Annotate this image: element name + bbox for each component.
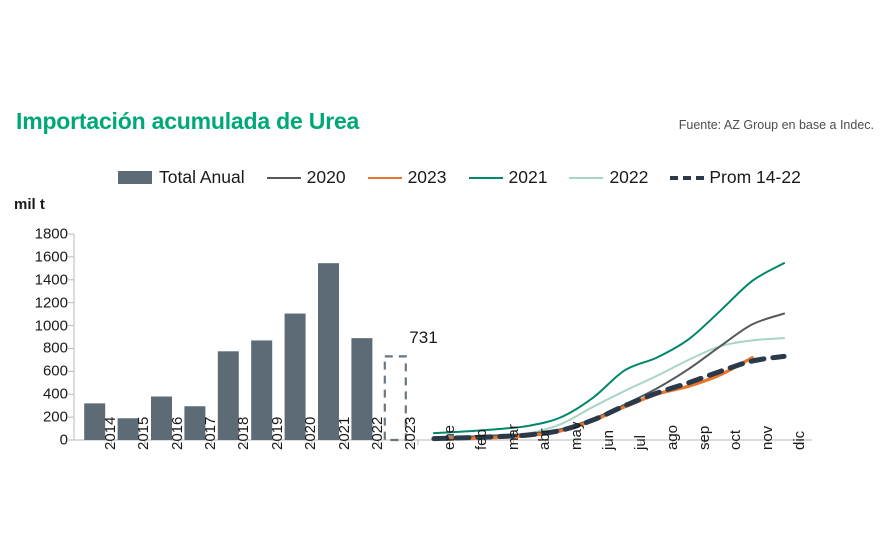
x-tick-month-feb: feb — [473, 429, 490, 450]
x-tick-month-sep: sep — [696, 426, 713, 450]
x-tick-year-2022: 2022 — [369, 417, 386, 450]
x-tick-year-2015: 2015 — [135, 417, 152, 450]
x-tick-year-2016: 2016 — [169, 417, 186, 450]
line-series-prom-14-22 — [434, 356, 784, 438]
x-tick-month-mar: mar — [505, 424, 522, 450]
x-tick-year-2020: 2020 — [302, 417, 319, 450]
x-tick-year-2023: 2023 — [402, 417, 419, 450]
line-series-2021 — [434, 263, 784, 433]
x-tick-month-oct: oct — [727, 430, 744, 450]
x-tick-month-abr: abr — [536, 428, 553, 450]
line-series-2020 — [434, 314, 784, 438]
x-tick-year-2019: 2019 — [269, 417, 286, 450]
x-tick-year-2018: 2018 — [235, 417, 252, 450]
x-tick-month-jul: jul — [632, 435, 649, 450]
x-tick-month-ene: ene — [441, 425, 458, 450]
x-tick-month-jun: jun — [600, 430, 617, 450]
x-tick-year-2017: 2017 — [202, 417, 219, 450]
x-tick-month-nov: nov — [759, 426, 776, 450]
x-tick-month-may: may — [568, 422, 585, 450]
x-tick-month-ago: ago — [664, 425, 681, 450]
x-tick-month-dic: dic — [791, 431, 808, 450]
line-series-2022 — [434, 338, 784, 439]
x-tick-year-2014: 2014 — [102, 417, 119, 450]
x-tick-year-2021: 2021 — [336, 417, 353, 450]
plot-area — [0, 0, 892, 535]
bar-2021 — [318, 263, 339, 440]
chart-canvas: Importación acumulada de Urea Fuente: AZ… — [0, 0, 892, 535]
bar-value-label-2023: 731 — [409, 328, 437, 348]
